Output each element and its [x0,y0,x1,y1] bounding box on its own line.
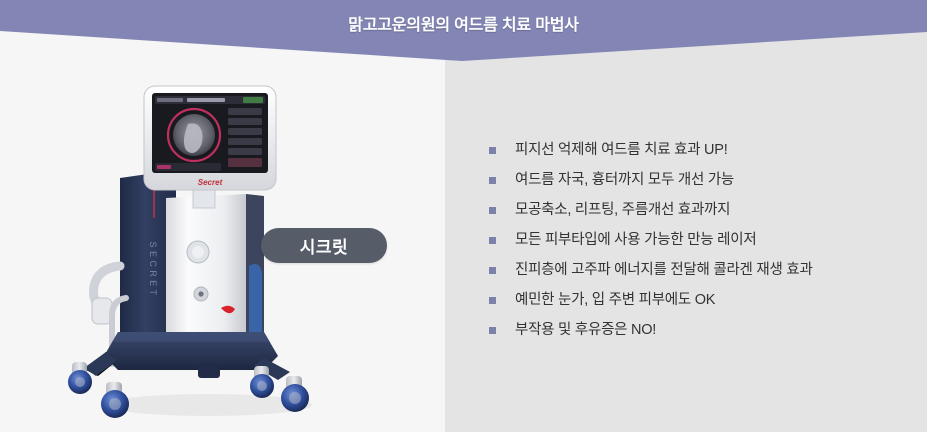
feature-text: 모든 피부타입에 사용 가능한 만능 레이저 [515,230,756,250]
feature-list: 피지선 억제해 여드름 치료 효과 UP! 여드름 자국, 흉터까지 모두 개선… [489,135,909,345]
device-screen-status-indicator [243,97,263,103]
feature-text: 모공축소, 리프팅, 주름개선 효과까지 [515,200,730,220]
device-screen-brand-text: Secret [198,178,223,187]
bullet-square-icon [489,147,496,154]
device-ground-shadow [104,394,312,416]
product-name-badge: 시크릿 [261,228,387,263]
list-item: 진피층에 고주파 에너지를 전달해 콜라겐 재생 효과 [489,255,909,285]
list-item: 모공축소, 리프팅, 주름개선 효과까지 [489,195,909,225]
device-base-post [198,366,220,378]
feature-text: 부작용 및 후유증은 NO! [515,320,656,340]
list-item: 모든 피부타입에 사용 가능한 만능 레이저 [489,225,909,255]
bullet-square-icon [489,207,496,214]
page-title: 맑고고운의원의 여드름 치료 마법사 [0,16,927,36]
feature-text: 피지선 억제해 여드름 치료 효과 UP! [515,140,727,160]
device-screen-toolbar-title [187,98,225,102]
device-port-inner [198,291,203,296]
feature-text: 진피층에 고주파 에너지를 전달해 콜라겐 재생 효과 [515,260,813,280]
feature-text: 여드름 자국, 흉터까지 모두 개선 가능 [515,170,734,190]
bullet-square-icon [489,327,496,334]
list-item: 여드름 자국, 흉터까지 모두 개선 가능 [489,165,909,195]
list-item: 예민한 눈가, 입 주변 피부에도 OK [489,285,909,315]
bullet-square-icon [489,237,496,244]
device-column-brand-text: SECRET [148,242,158,299]
list-item: 피지선 억제해 여드름 치료 효과 UP! [489,135,909,165]
feature-text: 예민한 눈가, 입 주변 피부에도 OK [515,290,715,310]
bullet-square-icon [489,297,496,304]
device-caster-front-left [101,382,129,418]
device-screen-bottom-chip [157,165,171,169]
device-knob-inner [192,246,204,258]
device-screen-toolbar-item [157,98,183,102]
bullet-square-icon [489,177,496,184]
device-cable [249,264,262,340]
device-cart-base-highlight [112,332,270,342]
bullet-square-icon [489,267,496,274]
promo-banner: 맑고고운의원의 여드름 치료 마법사 [0,0,927,432]
device-caster-front-right [281,376,309,412]
list-item: 부작용 및 후유증은 NO! [489,315,909,345]
